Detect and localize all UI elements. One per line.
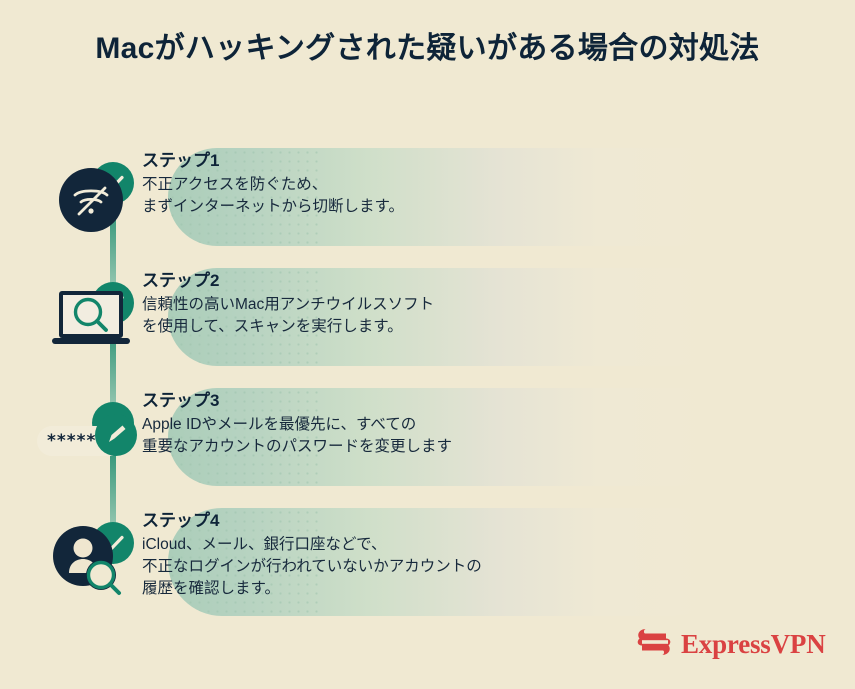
step-description: 不正アクセスを防ぐため、 まずインターネットから切断します。 [142,174,562,219]
step-description: Apple IDやメールを最優先に、すべての 重要なアカウントのパスワードを変更… [142,414,562,459]
expressvpn-logo: ExpressVPN [636,626,826,663]
step-row: ****** ステップ3 Apple IDやメールを最優先に、すべての 重要なア… [0,380,855,500]
account-search-icon [36,500,146,625]
page-title: Macがハッキングされた疑いがある場合の対処法 [0,30,855,68]
step-text: ステップ3 Apple IDやメールを最優先に、すべての 重要なアカウントのパス… [142,388,562,458]
step-description: iCloud、メール、銀行口座などで、 不正なログインが行われていないかアカウン… [142,534,562,601]
step-text: ステップ4 iCloud、メール、銀行口座などで、 不正なログインが行われていな… [142,508,562,601]
step-description: 信頼性の高いMac用アンチウイルスソフト を使用して、スキャンを実行します。 [142,294,562,339]
step-row: ステップ2 信頼性の高いMac用アンチウイルスソフト を使用して、スキャンを実行… [0,260,855,380]
steps-list: ステップ1 不正アクセスを防ぐため、 まずインターネットから切断します。 [0,140,855,625]
expressvpn-e-mark-icon [636,626,672,663]
wifi-off-icon [36,140,146,260]
step-label: ステップ4 [142,508,562,534]
laptop-scan-icon [36,260,146,380]
step-text: ステップ2 信頼性の高いMac用アンチウイルスソフト を使用して、スキャンを実行… [142,268,562,338]
password-edit-icon: ****** [36,380,146,500]
step-label: ステップ3 [142,388,562,414]
step-row: ステップ1 不正アクセスを防ぐため、 まずインターネットから切断します。 [0,140,855,260]
step-row: ステップ4 iCloud、メール、銀行口座などで、 不正なログインが行われていな… [0,500,855,625]
edit-pencil-icon [95,414,137,456]
step-label: ステップ1 [142,148,562,174]
step-text: ステップ1 不正アクセスを防ぐため、 まずインターネットから切断します。 [142,148,562,218]
expressvpn-wordmark: ExpressVPN [681,631,826,658]
step-label: ステップ2 [142,268,562,294]
